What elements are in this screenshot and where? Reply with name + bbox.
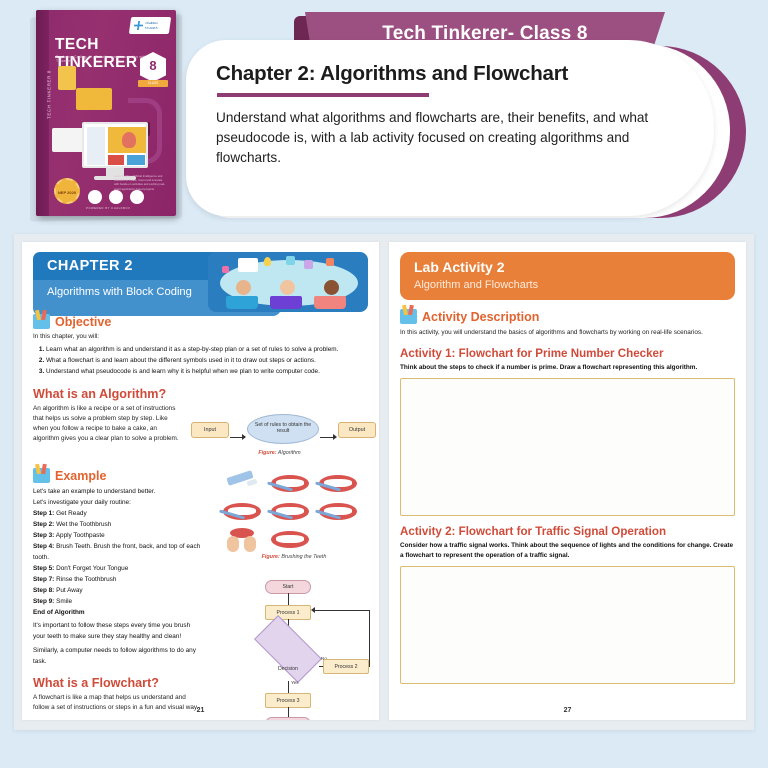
- pink-square-icon: [222, 266, 229, 273]
- activity-1-heading: Activity 1: Flowchart for Prime Number C…: [400, 347, 735, 360]
- activity-description-text: In this activity, you will understand th…: [400, 328, 735, 338]
- step-item: Step 7: Rinse the Toothbrush: [33, 574, 201, 585]
- algorithm-row: An algorithm is like a recipe or a set o…: [33, 404, 368, 460]
- mouth-step-icon: [267, 498, 313, 524]
- flow-edge-loop-arrow: [311, 607, 315, 613]
- diagram-node-output: Output: [338, 422, 376, 438]
- step-item: Step 3: Apply Toothpaste: [33, 530, 201, 541]
- brushing-teeth-figure: Figure: Brushing the Teeth: [219, 470, 369, 560]
- mouth-step-icon: [315, 498, 361, 524]
- book-decor-square: [58, 66, 76, 90]
- activity-description-heading: Activity Description: [422, 310, 539, 324]
- algorithm-diagram: Input Set of rules to obtain the result …: [191, 404, 368, 460]
- book-spine: TECH TINKERER 8: [36, 10, 49, 216]
- doc-icon: [238, 258, 258, 272]
- book-spine-text: TECH TINKERER 8: [47, 50, 52, 140]
- figure-label: Figure:: [258, 450, 276, 456]
- mouth-step-icon: [315, 470, 361, 496]
- flow-edge-1: [288, 593, 289, 605]
- hands-rinse-icon: [219, 526, 265, 552]
- list-item: Understand what pseudocode is and learn …: [46, 366, 368, 377]
- right-page-number: 27: [389, 707, 746, 714]
- student-2: [270, 280, 304, 309]
- activity-description-icon: [400, 309, 417, 324]
- lab-activity-subtitle: Algorithm and Flowcharts: [414, 279, 721, 291]
- figure-text: Brushing the Teeth: [281, 554, 326, 560]
- left-page: CHAPTER 2 Algorithms with Block Coding O…: [22, 242, 379, 720]
- objective-heading: Objective: [55, 315, 111, 329]
- step-item: Step 8: Put Away: [33, 585, 201, 596]
- smile-icon: [267, 526, 313, 552]
- activity-description-heading-row: Activity Description: [400, 309, 735, 324]
- objective-heading-row: Objective: [33, 314, 368, 329]
- activity-2-answer-box[interactable]: [400, 566, 735, 684]
- step-item: Step 1: Get Ready: [33, 508, 201, 519]
- example-icon: [33, 468, 50, 483]
- example-heading: Example: [55, 469, 106, 483]
- students-illustration: [208, 252, 368, 312]
- list-item: Learn what an algorithm is and understan…: [46, 344, 368, 355]
- flow-edge-yes-label: Yes: [291, 680, 299, 685]
- figure-label: Figure:: [262, 554, 280, 560]
- lab-activity-header: Lab Activity 2 Algorithm and Flowcharts: [400, 252, 735, 300]
- cog-icon: [286, 256, 295, 265]
- pages-container: CHAPTER 2 Algorithms with Block Coding O…: [14, 234, 754, 730]
- flowchart-figure: Start Process 1 Decision No Process 2 Ye…: [217, 580, 373, 710]
- book-decor-video-card: [76, 88, 112, 110]
- algorithm-body: An algorithm is like a recipe or a set o…: [33, 404, 183, 460]
- diagram-arrow-2: [320, 437, 336, 438]
- class-badge-label: CLASS: [138, 80, 168, 87]
- book-front: TECH TINKERER 8 TECH TINKERER Exploring …: [36, 10, 176, 216]
- book-feature-icons: [88, 190, 144, 204]
- flow-edge-corner: [369, 666, 370, 667]
- flow-edge-loop-vert: [369, 610, 370, 666]
- book-publisher-text: POWERED BY CHALKBOX: [86, 206, 130, 210]
- orange-square-icon: [326, 258, 334, 266]
- book-back-text: Learn Coding, Artificial Intelligence an…: [114, 174, 166, 191]
- logo-line-2: STUDIES: [144, 26, 158, 31]
- book-monitor-icon: [82, 122, 148, 168]
- teeth-figure-caption: Figure: Brushing the Teeth: [219, 554, 369, 560]
- objective-icon: [33, 314, 50, 329]
- nep-badge: NEP 2020: [54, 178, 80, 204]
- teeth-grid: [219, 470, 369, 552]
- activity-2-prompt: Consider how a traffic signal works. Thi…: [400, 541, 735, 561]
- mouth-step-icon: [267, 470, 313, 496]
- chapter-header: CHAPTER 2 Algorithms with Block Coding: [33, 252, 368, 314]
- chapter-description: Understand what algorithms and flowchart…: [216, 108, 674, 168]
- title-underline: [217, 93, 429, 97]
- activity-1-prompt: Think about the steps to check if a numb…: [400, 363, 735, 373]
- step-item: Step 4: Brush Teeth. Brush the front, ba…: [33, 541, 201, 563]
- page-header: TECH TINKERER 8 TECH TINKERER Exploring …: [0, 0, 768, 232]
- student-3: [314, 280, 348, 309]
- activity-2-heading: Activity 2: Flowchart for Traffic Signal…: [400, 525, 735, 538]
- flow-node-decision: Decision: [261, 666, 315, 672]
- logo-line-1: Chalkbox: [145, 21, 159, 26]
- lab-activity-title: Lab Activity 2: [414, 259, 721, 275]
- list-item: What a flowchart is and learn about the …: [46, 355, 368, 366]
- example-outro-2: Similarly, a computer needs to follow al…: [33, 645, 201, 667]
- student-1: [226, 280, 260, 309]
- example-outro-1: It's important to follow these steps eve…: [33, 620, 201, 642]
- mouth-step-icon: [219, 498, 265, 524]
- step-item: Step 2: Wet the Toothbrush: [33, 519, 201, 530]
- objective-intro: In this chapter, you will:: [33, 332, 368, 342]
- flow-node-end: End: [265, 717, 311, 720]
- step-item: Step 5: Don't Forget Your Tongue: [33, 563, 201, 574]
- objective-section: Objective In this chapter, you will: Lea…: [33, 314, 368, 378]
- example-intro-1: Let's take an example to understand bett…: [33, 486, 201, 497]
- bulb-icon: [264, 257, 271, 266]
- book-cover-image: TECH TINKERER 8 TECH TINKERER Exploring …: [22, 10, 187, 222]
- flow-node-process-1: Process 1: [265, 605, 311, 620]
- example-steps: Let's take an example to understand bett…: [33, 486, 201, 667]
- figure-text: Algorithm: [278, 450, 301, 456]
- class-badge-number: 8: [149, 58, 156, 73]
- right-page: Lab Activity 2 Algorithm and Flowcharts …: [389, 242, 746, 720]
- diagram-node-input: Input: [191, 422, 229, 438]
- diagram-node-process: Set of rules to obtain the result: [247, 414, 319, 444]
- header-card: Chapter 2: Algorithms and Flowchart Unde…: [186, 40, 714, 216]
- flow-node-start: Start: [265, 580, 311, 594]
- step-item: Step 9: Smile: [33, 596, 201, 607]
- objective-list: Learn what an algorithm is and understan…: [46, 344, 368, 378]
- step-item: End of Algorithm: [33, 607, 201, 618]
- toothpaste-tube-icon: [219, 470, 265, 496]
- diagram-arrow-1: [230, 437, 245, 438]
- publisher-logo-icon: Chalkbox STUDIES: [129, 17, 171, 34]
- flow-node-process-3: Process 3: [265, 693, 311, 708]
- flow-edge-loop-horz: [313, 610, 370, 611]
- page-title: Chapter 2: Algorithms and Flowchart: [216, 62, 674, 86]
- what-is-algorithm-heading: What is an Algorithm?: [33, 387, 368, 401]
- flow-node-decision-shape: [254, 615, 322, 683]
- left-page-number: 21: [22, 707, 379, 714]
- code-icon: [304, 260, 313, 269]
- algorithm-figure-caption: Figure: Algorithm: [191, 450, 368, 456]
- what-is-flowchart-heading: What is a Flowchart?: [33, 676, 201, 690]
- flow-node-process-2: Process 2: [323, 659, 369, 674]
- example-intro-2: Let's investigate your daily routine:: [33, 497, 201, 508]
- activity-1-answer-box[interactable]: [400, 378, 735, 516]
